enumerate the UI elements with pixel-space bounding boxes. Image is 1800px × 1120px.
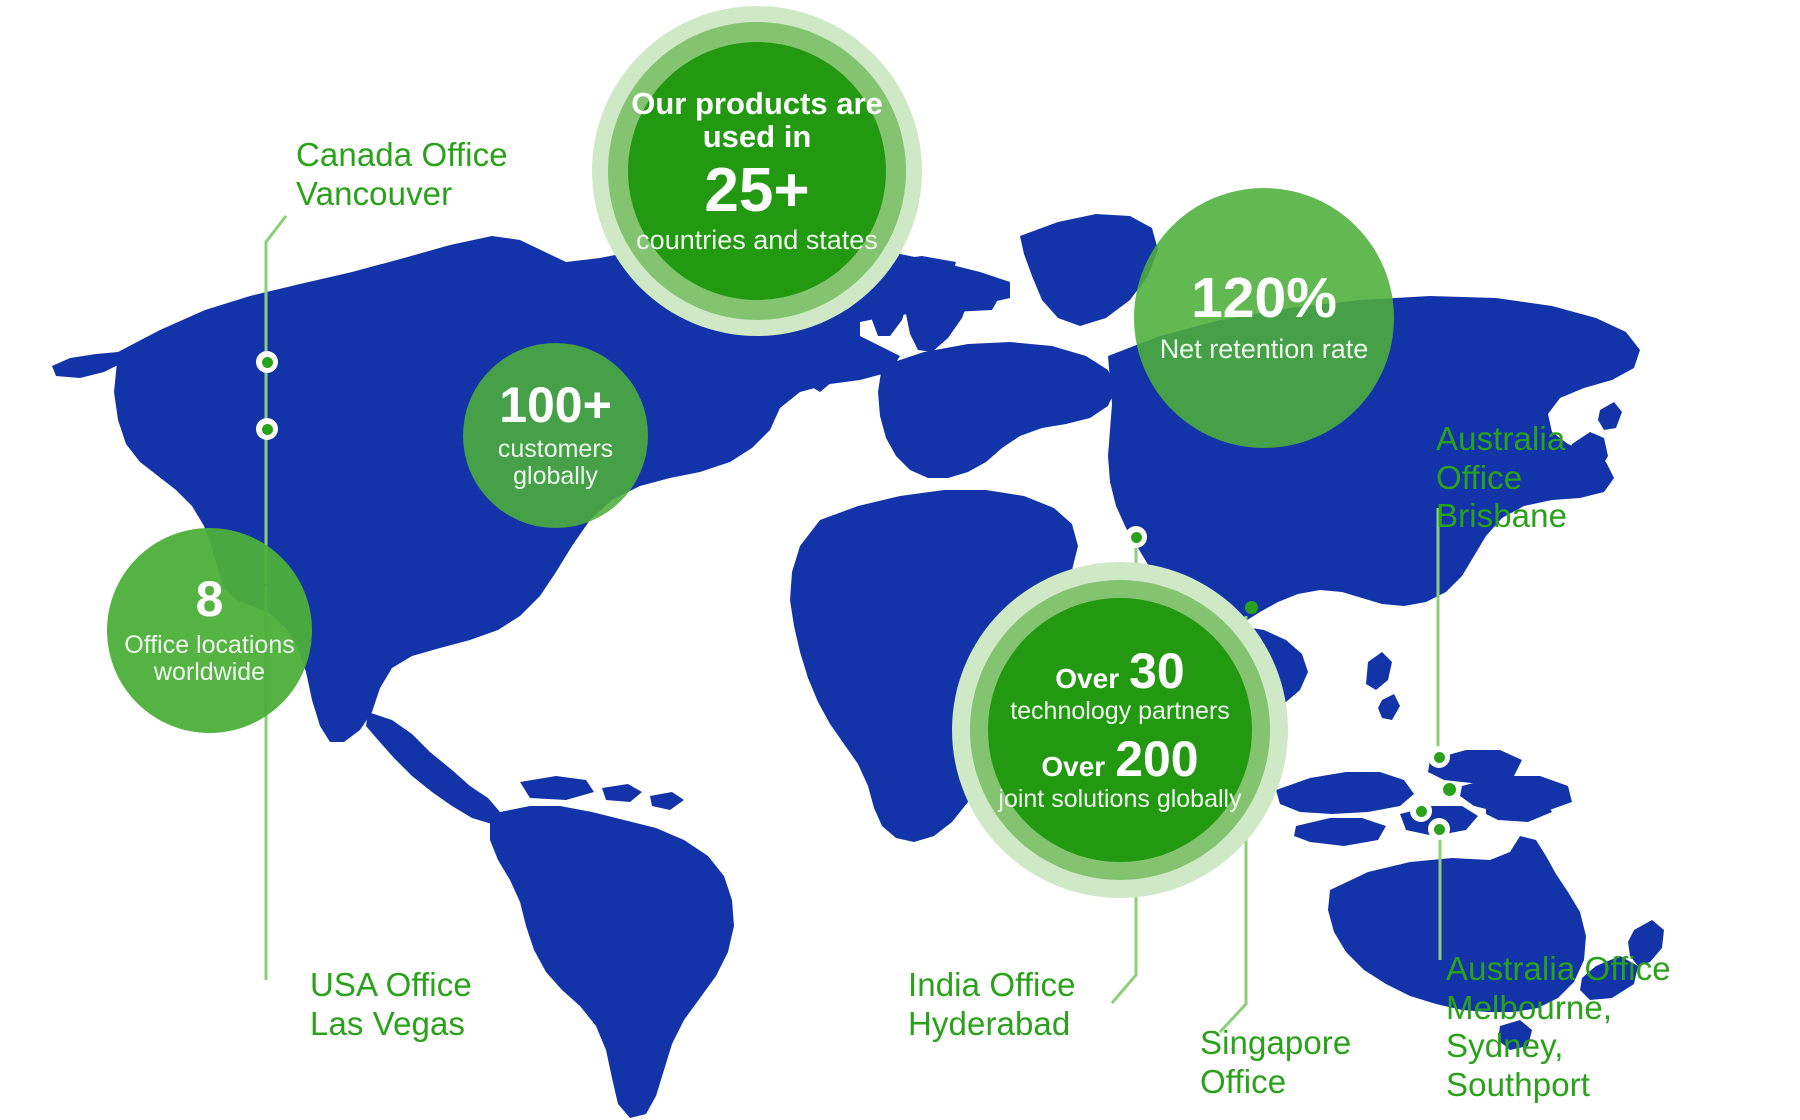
leader-line-australia-other: [1438, 826, 1456, 960]
bubble-countries-lead: Our products are used in: [628, 87, 886, 153]
bubble-countries-caption: countries and states: [636, 226, 878, 256]
bubble-retention-caption: Net retention rate: [1160, 335, 1369, 365]
office-label-india: India Office Hyderabad: [908, 966, 1076, 1043]
partners-30-caption: technology partners: [1010, 698, 1230, 726]
office-label-australia-brisbane: Australia Office Brisbane: [1436, 420, 1567, 536]
infographic-root: Canada Office Vancouver USA Office Las V…: [0, 0, 1800, 1120]
office-label-singapore: Singapore Office: [1200, 1024, 1351, 1101]
bubble-countries-value: 25+: [704, 161, 809, 222]
office-label-australia-other: Australia Office Melbourne, Sydney, Sout…: [1446, 950, 1671, 1104]
leader-line-canada: [262, 216, 292, 586]
bubble-offices-caption: Office locations worldwide: [107, 632, 312, 687]
office-label-usa: USA Office Las Vegas: [310, 966, 472, 1043]
bubble-retention-value: 120%: [1191, 271, 1337, 327]
stat-bubble-offices[interactable]: 8 Office locations worldwide: [107, 528, 312, 733]
partners-200-prefix: Over: [1041, 753, 1105, 781]
bubble-customers-value: 100+: [499, 381, 612, 430]
office-label-canada: Canada Office Vancouver: [296, 136, 508, 213]
bubble-customers-caption: customers globally: [463, 436, 648, 491]
pin-vancouver[interactable]: [256, 351, 278, 373]
leader-line-australia-brisbane: [1436, 508, 1454, 758]
bubble-countries[interactable]: Our products are used in 25+ countries a…: [628, 42, 886, 300]
partners-30-value: 30: [1129, 647, 1185, 696]
bubble-offices-value: 8: [196, 575, 224, 624]
pin-sydney[interactable]: [1410, 800, 1432, 822]
bubble-partners[interactable]: Over 30 technology partners Over 200 joi…: [988, 598, 1252, 862]
pin-melbourne[interactable]: [1428, 818, 1450, 840]
partners-200-caption: joint solutions globally: [998, 786, 1241, 814]
partners-30-prefix: Over: [1055, 665, 1119, 693]
pin-singapore[interactable]: [1240, 596, 1262, 618]
stat-bubble-retention[interactable]: 120% Net retention rate: [1134, 188, 1394, 448]
partners-row-200: Over 200: [1041, 735, 1198, 784]
partners-row-30: Over 30: [1055, 647, 1184, 696]
stat-bubble-customers[interactable]: 100+ customers globally: [463, 343, 648, 528]
pin-southport[interactable]: [1438, 778, 1460, 800]
pin-brisbane[interactable]: [1428, 746, 1450, 768]
pin-las-vegas[interactable]: [256, 418, 278, 440]
pin-hyderabad[interactable]: [1125, 526, 1147, 548]
partners-200-value: 200: [1115, 735, 1198, 784]
